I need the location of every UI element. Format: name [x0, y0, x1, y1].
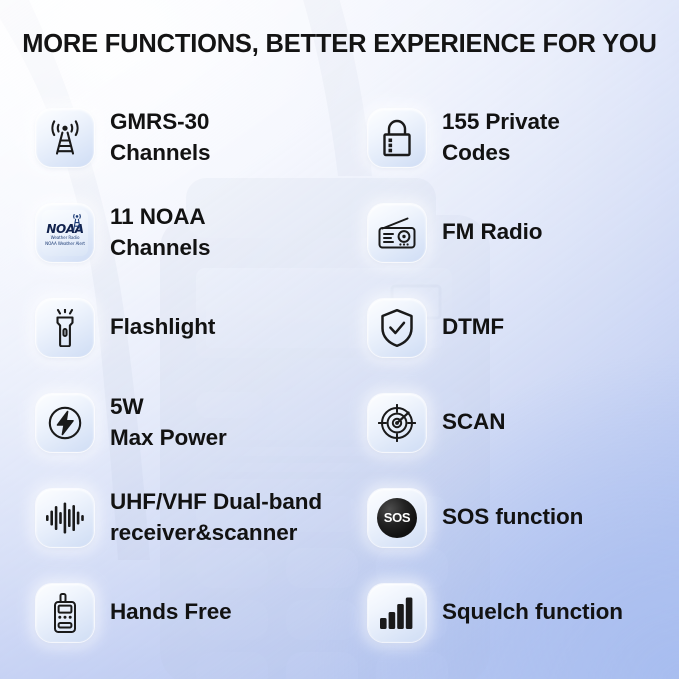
feature-item-noaa-channels: NOAA Weather Radio NOAA Weather Alert 11…: [36, 185, 366, 280]
feature-label-line2: Codes: [442, 138, 560, 169]
feature-item-squelch: Squelch function: [368, 565, 668, 660]
feature-label-line1: DTMF: [442, 314, 504, 339]
feature-label-line2: receiver&scanner: [110, 518, 322, 549]
feature-label-line1: UHF/VHF Dual-band: [110, 489, 322, 514]
feature-label-line1: SCAN: [442, 409, 505, 434]
noaa-badge: NOAA Weather Radio NOAA Weather Alert: [42, 210, 88, 256]
feature-column-right: 155 Private Codes FM Radio: [368, 90, 668, 660]
sos-circle: SOS: [377, 498, 417, 538]
feature-label: Squelch function: [442, 597, 623, 628]
feature-label-line1: FM Radio: [442, 219, 542, 244]
feature-label-line1: 5W: [110, 394, 144, 419]
feature-label: 11 NOAA Channels: [110, 202, 210, 263]
feature-label-line1: GMRS-30: [110, 109, 209, 134]
feature-label: 5W Max Power: [110, 392, 227, 453]
feature-label-line2: Channels: [110, 138, 210, 169]
waveform-icon: [36, 489, 94, 547]
fm-radio-icon: [368, 204, 426, 262]
feature-label: SOS function: [442, 502, 583, 533]
feature-item-dualband-receiver: UHF/VHF Dual-band receiver&scanner: [36, 470, 366, 565]
feature-label: DTMF: [442, 312, 504, 343]
feature-label: Hands Free: [110, 597, 232, 628]
feature-label-line2: Channels: [110, 233, 210, 264]
feature-label-line1: Flashlight: [110, 314, 215, 339]
feature-label-line1: 11 NOAA: [110, 204, 206, 229]
lightning-bolt-icon: [36, 394, 94, 452]
feature-label-line1: SOS function: [442, 504, 583, 529]
feature-label: Flashlight: [110, 312, 215, 343]
padlock-icon: [368, 109, 426, 167]
signal-bars-icon: [368, 584, 426, 642]
feature-infographic: MORE FUNCTIONS, BETTER EXPERIENCE FOR YO…: [0, 0, 679, 679]
feature-label: 155 Private Codes: [442, 107, 560, 168]
feature-column-left: GMRS-30 Channels NOAA Weather Radio NOAA…: [36, 90, 366, 660]
page-title: MORE FUNCTIONS, BETTER EXPERIENCE FOR YO…: [0, 30, 679, 59]
feature-item-sos: SOS SOS function: [368, 470, 668, 565]
feature-item-hands-free: Hands Free: [36, 565, 366, 660]
feature-label-line1: 155 Private: [442, 109, 560, 134]
sos-icon: SOS: [368, 489, 426, 547]
feature-label: GMRS-30 Channels: [110, 107, 210, 168]
flashlight-icon: [36, 299, 94, 357]
feature-label: UHF/VHF Dual-band receiver&scanner: [110, 487, 322, 548]
feature-label-line2: Max Power: [110, 423, 227, 454]
feature-label-line1: Squelch function: [442, 599, 623, 624]
radar-target-icon: [368, 394, 426, 452]
feature-item-private-codes: 155 Private Codes: [368, 90, 668, 185]
noaa-weather-radio-icon: NOAA Weather Radio NOAA Weather Alert: [36, 204, 94, 262]
feature-label: FM Radio: [442, 217, 542, 248]
noaa-tower-icon: [69, 212, 85, 232]
shield-check-icon: [368, 299, 426, 357]
sos-label: SOS: [384, 510, 411, 525]
walkie-talkie-icon: [36, 584, 94, 642]
feature-item-max-power: 5W Max Power: [36, 375, 366, 470]
feature-item-scan: SCAN: [368, 375, 668, 470]
feature-label: SCAN: [442, 407, 505, 438]
noaa-subtitle-2: NOAA Weather Alert: [45, 241, 85, 246]
feature-label-line1: Hands Free: [110, 599, 232, 624]
feature-item-flashlight: Flashlight: [36, 280, 366, 375]
feature-item-fm-radio: FM Radio: [368, 185, 668, 280]
feature-item-gmrs-channels: GMRS-30 Channels: [36, 90, 366, 185]
radio-tower-icon: [36, 109, 94, 167]
feature-item-dtmf: DTMF: [368, 280, 668, 375]
